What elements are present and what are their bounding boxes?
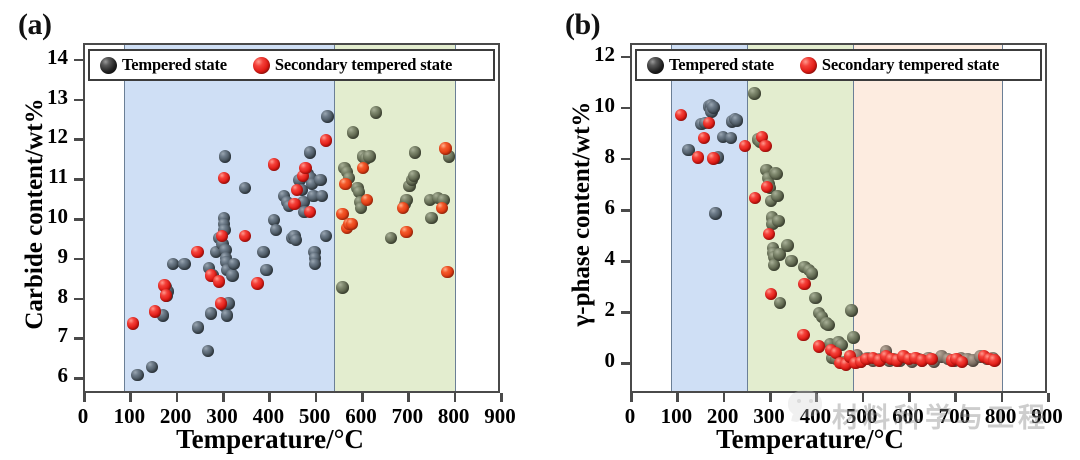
data-point bbox=[400, 226, 412, 238]
ytick bbox=[74, 377, 83, 380]
panel-a-label: (a) bbox=[18, 8, 51, 42]
ytick bbox=[621, 107, 630, 110]
data-point bbox=[127, 317, 139, 329]
data-point bbox=[361, 194, 373, 206]
data-point bbox=[270, 224, 282, 236]
data-point bbox=[441, 266, 453, 278]
data-point bbox=[809, 292, 821, 304]
xtick bbox=[315, 393, 318, 402]
panel-b-xaxis-title: Temperature/°C bbox=[540, 424, 1080, 455]
data-point bbox=[425, 212, 437, 224]
ytick-label: 12 bbox=[559, 42, 615, 67]
ytick-label: 0 bbox=[559, 348, 615, 373]
data-point bbox=[336, 281, 348, 293]
xtick bbox=[407, 393, 410, 402]
red-sphere-icon bbox=[800, 57, 817, 74]
data-point bbox=[347, 126, 359, 138]
data-point bbox=[268, 158, 280, 170]
data-point bbox=[221, 309, 233, 321]
data-point bbox=[178, 258, 190, 270]
data-point bbox=[314, 174, 326, 186]
legend-entry-secondary: Secondary tempered state bbox=[800, 55, 999, 75]
data-point bbox=[219, 150, 231, 162]
ytick-label: 6 bbox=[12, 363, 68, 388]
xtick bbox=[361, 393, 364, 402]
panel-b-label: (b) bbox=[565, 8, 600, 42]
region-austenite-stable-region bbox=[671, 45, 747, 391]
xtick bbox=[954, 393, 957, 402]
xtick bbox=[862, 393, 865, 402]
ytick bbox=[74, 258, 83, 261]
data-point bbox=[213, 275, 225, 287]
legend-label-tempered: Tempered state bbox=[669, 55, 774, 75]
legend-entry-tempered: Tempered state bbox=[647, 55, 774, 75]
xtick bbox=[83, 393, 86, 402]
data-point bbox=[191, 246, 203, 258]
legend-label-secondary: Secondary tempered state bbox=[822, 55, 999, 75]
data-point bbox=[707, 101, 719, 113]
data-point bbox=[813, 340, 825, 352]
region-decomposed-region bbox=[854, 45, 1002, 391]
data-point bbox=[226, 269, 238, 281]
panel-a-yaxis-title: Carbide content/wt% bbox=[21, 84, 49, 344]
data-point bbox=[956, 356, 968, 368]
panel-b-yaxis-title: γ-phase content/wt% bbox=[568, 84, 596, 344]
ytick bbox=[74, 178, 83, 181]
panel-b-plot-frame bbox=[630, 43, 1047, 393]
xtick bbox=[454, 393, 457, 402]
xtick bbox=[222, 393, 225, 402]
data-point bbox=[797, 329, 809, 341]
legend-entry-tempered: Tempered state bbox=[100, 55, 227, 75]
data-point bbox=[759, 140, 771, 152]
ytick-label: 14 bbox=[12, 45, 68, 70]
black-sphere-icon bbox=[647, 57, 664, 74]
panel-a-plot-area bbox=[85, 45, 498, 391]
ytick bbox=[74, 218, 83, 221]
data-point bbox=[192, 321, 204, 333]
xtick bbox=[268, 393, 271, 402]
data-point bbox=[798, 278, 810, 290]
panel-b-legend: Tempered state Secondary tempered state bbox=[635, 49, 1042, 81]
panel-a-legend: Tempered state Secondary tempered state bbox=[88, 49, 495, 81]
data-point bbox=[239, 230, 251, 242]
red-sphere-icon bbox=[253, 57, 270, 74]
ytick bbox=[74, 99, 83, 102]
ytick bbox=[621, 158, 630, 161]
data-point bbox=[385, 232, 397, 244]
data-point bbox=[781, 239, 793, 251]
xtick bbox=[129, 393, 132, 402]
data-point bbox=[260, 264, 272, 276]
ytick bbox=[74, 138, 83, 141]
ytick bbox=[74, 337, 83, 340]
ytick bbox=[621, 56, 630, 59]
data-point bbox=[321, 110, 333, 122]
data-point bbox=[770, 168, 782, 180]
data-point bbox=[988, 354, 1000, 366]
data-point bbox=[215, 297, 227, 309]
data-point bbox=[822, 319, 834, 331]
xtick bbox=[908, 393, 911, 402]
xtick bbox=[1001, 393, 1004, 402]
xtick bbox=[630, 393, 633, 402]
data-point bbox=[748, 87, 760, 99]
data-point bbox=[692, 151, 704, 163]
panel-b: (b) Tempered state Secondary tempered st… bbox=[540, 0, 1080, 460]
data-point bbox=[772, 215, 784, 227]
data-point bbox=[785, 255, 797, 267]
data-point bbox=[925, 353, 937, 365]
xtick bbox=[176, 393, 179, 402]
legend-label-tempered: Tempered state bbox=[122, 55, 227, 75]
data-point bbox=[304, 146, 316, 158]
ytick bbox=[621, 260, 630, 263]
panel-a: (a) Tempered state Secondary tempered st… bbox=[0, 0, 540, 460]
ytick bbox=[74, 298, 83, 301]
legend-entry-secondary: Secondary tempered state bbox=[253, 55, 452, 75]
data-point bbox=[439, 142, 451, 154]
data-point bbox=[131, 369, 143, 381]
data-point bbox=[731, 114, 743, 126]
ytick bbox=[74, 59, 83, 62]
data-point bbox=[320, 134, 332, 146]
data-point bbox=[707, 152, 719, 164]
data-point bbox=[703, 117, 715, 129]
data-point bbox=[290, 234, 302, 246]
data-point bbox=[149, 305, 161, 317]
data-point bbox=[160, 289, 172, 301]
data-point bbox=[409, 146, 421, 158]
xtick bbox=[676, 393, 679, 402]
data-point bbox=[709, 207, 721, 219]
data-point bbox=[251, 277, 263, 289]
data-point bbox=[771, 190, 783, 202]
panel-a-xaxis-title: Temperature/°C bbox=[0, 424, 540, 455]
data-point bbox=[205, 307, 217, 319]
ytick bbox=[621, 311, 630, 314]
data-point bbox=[845, 304, 857, 316]
xtick bbox=[815, 393, 818, 402]
panel-a-plot-frame bbox=[83, 43, 500, 393]
ytick bbox=[621, 209, 630, 212]
data-point bbox=[320, 230, 332, 242]
ytick bbox=[621, 362, 630, 365]
data-point bbox=[363, 150, 375, 162]
xtick bbox=[1047, 393, 1050, 402]
data-point bbox=[288, 198, 300, 210]
data-point bbox=[339, 178, 351, 190]
xtick bbox=[769, 393, 772, 402]
figure-root: (a) Tempered state Secondary tempered st… bbox=[0, 0, 1080, 460]
data-point bbox=[167, 258, 179, 270]
black-sphere-icon bbox=[100, 57, 117, 74]
data-point bbox=[370, 106, 382, 118]
xtick bbox=[500, 393, 503, 402]
data-point bbox=[257, 246, 269, 258]
xtick bbox=[723, 393, 726, 402]
panel-b-plot-area bbox=[632, 45, 1045, 391]
data-point bbox=[847, 331, 859, 343]
legend-label-secondary: Secondary tempered state bbox=[275, 55, 452, 75]
